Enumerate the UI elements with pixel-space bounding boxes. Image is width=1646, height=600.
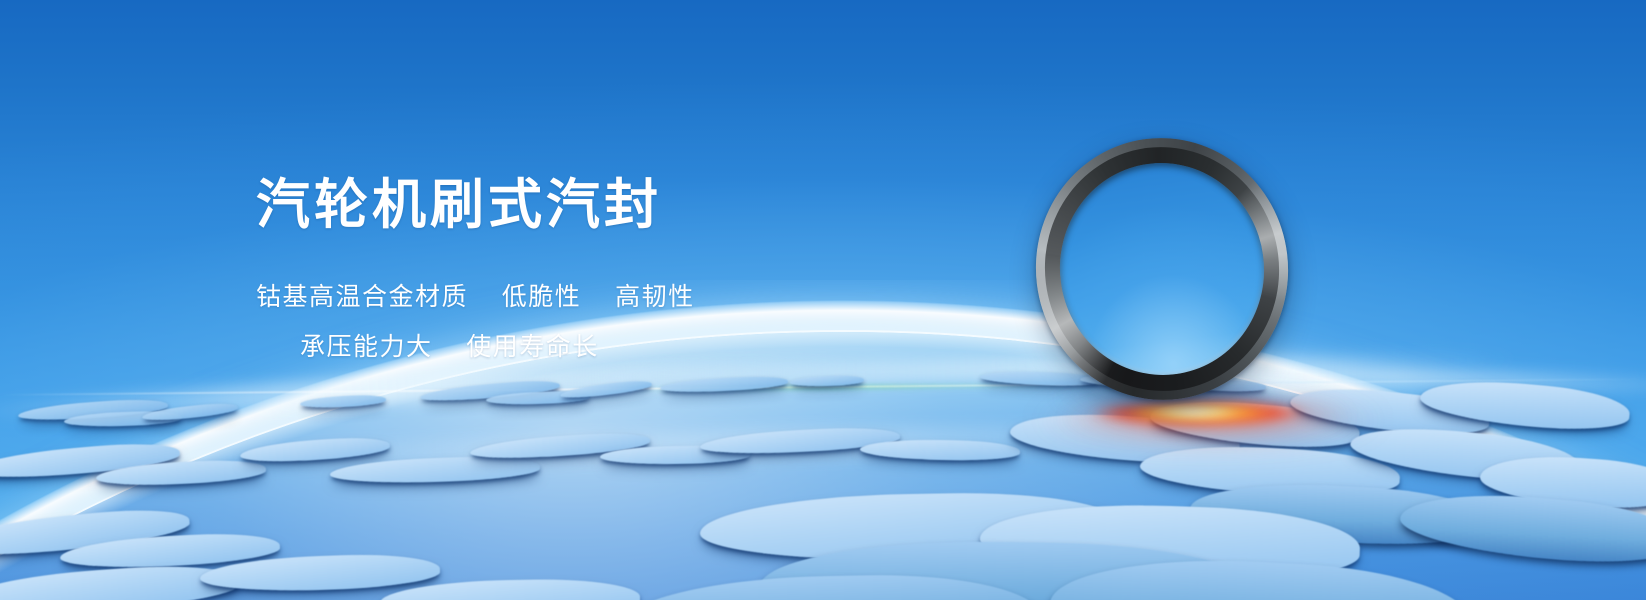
- brush-seal-ring-product: [1036, 138, 1288, 400]
- product-hero-banner: 汽轮机刷式汽封 钴基高温合金材质 低脆性 高韧性 承压能力大 使用寿命长: [0, 0, 1646, 600]
- page-title: 汽轮机刷式汽封: [256, 176, 896, 234]
- feature-line-1: 钴基高温合金材质 低脆性 高韧性: [256, 272, 896, 322]
- banner-copy: 汽轮机刷式汽封 钴基高温合金材质 低脆性 高韧性 承压能力大 使用寿命长: [256, 176, 896, 372]
- seal-ring: [1021, 124, 1303, 415]
- feature-line-2: 承压能力大 使用寿命长: [256, 322, 896, 372]
